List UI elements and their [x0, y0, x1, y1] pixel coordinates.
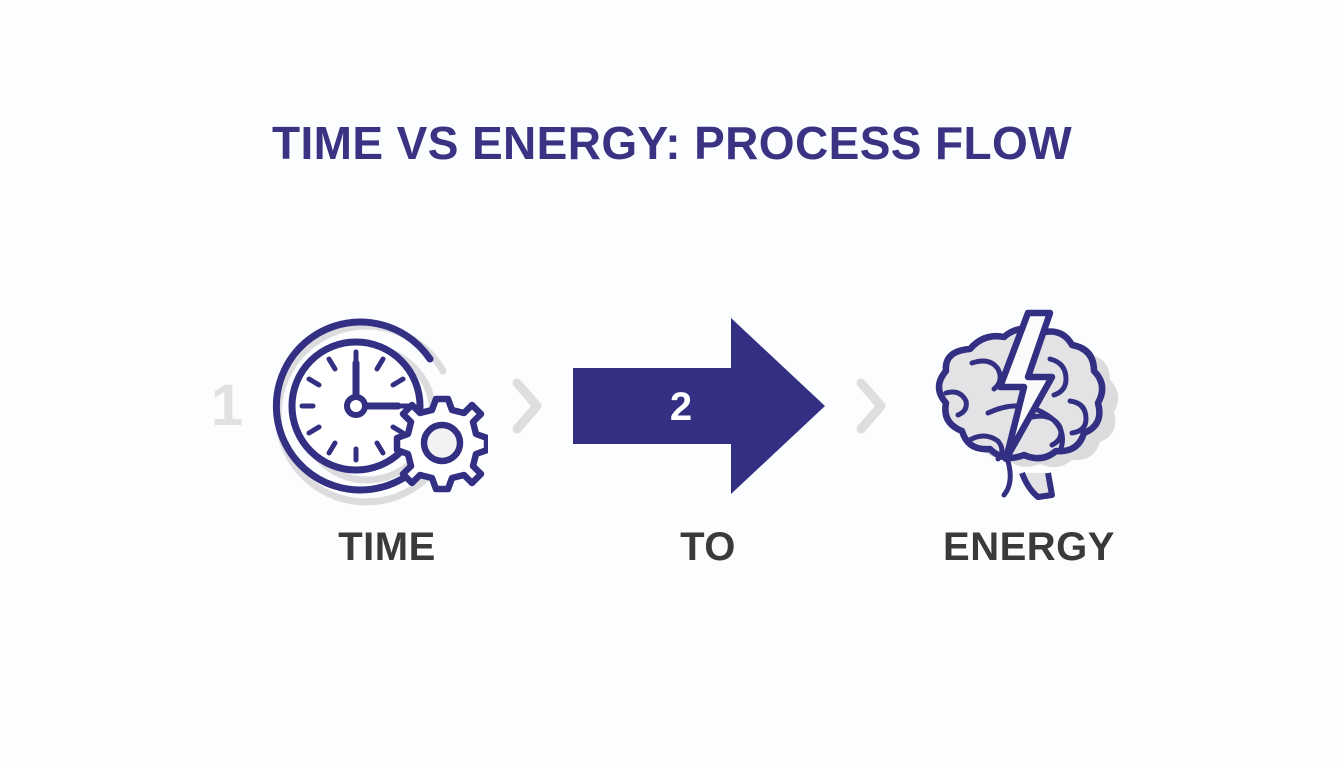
brain-lightning-icon — [910, 301, 1130, 511]
ghost-step-number-1: 1 — [211, 377, 243, 435]
chevron-right-icon — [505, 373, 549, 439]
arrow-step-number: 2 — [670, 385, 692, 429]
clock-center-hub — [347, 397, 365, 415]
flow-step-time[interactable] — [265, 296, 491, 516]
process-flow-row: 1 — [0, 296, 1344, 516]
flow-labels-row: TIME TO ENERGY — [0, 514, 1344, 580]
flow-label-energy: ENERGY — [916, 525, 1142, 570]
page-title: TIME VS ENERGY: PROCESS FLOW — [0, 118, 1344, 169]
chevron-right-icon — [849, 373, 893, 439]
clock-gear-icon — [268, 301, 488, 511]
brain-stem — [1022, 473, 1052, 497]
flow-label-time: TIME — [274, 525, 500, 570]
flow-step-to[interactable]: 2 — [563, 296, 835, 516]
flow-label-to: TO — [572, 525, 844, 570]
gear-icon — [397, 399, 487, 489]
flow-step-energy[interactable] — [907, 296, 1133, 516]
arrow-shape — [573, 318, 825, 494]
right-arrow-icon: 2 — [563, 306, 835, 506]
